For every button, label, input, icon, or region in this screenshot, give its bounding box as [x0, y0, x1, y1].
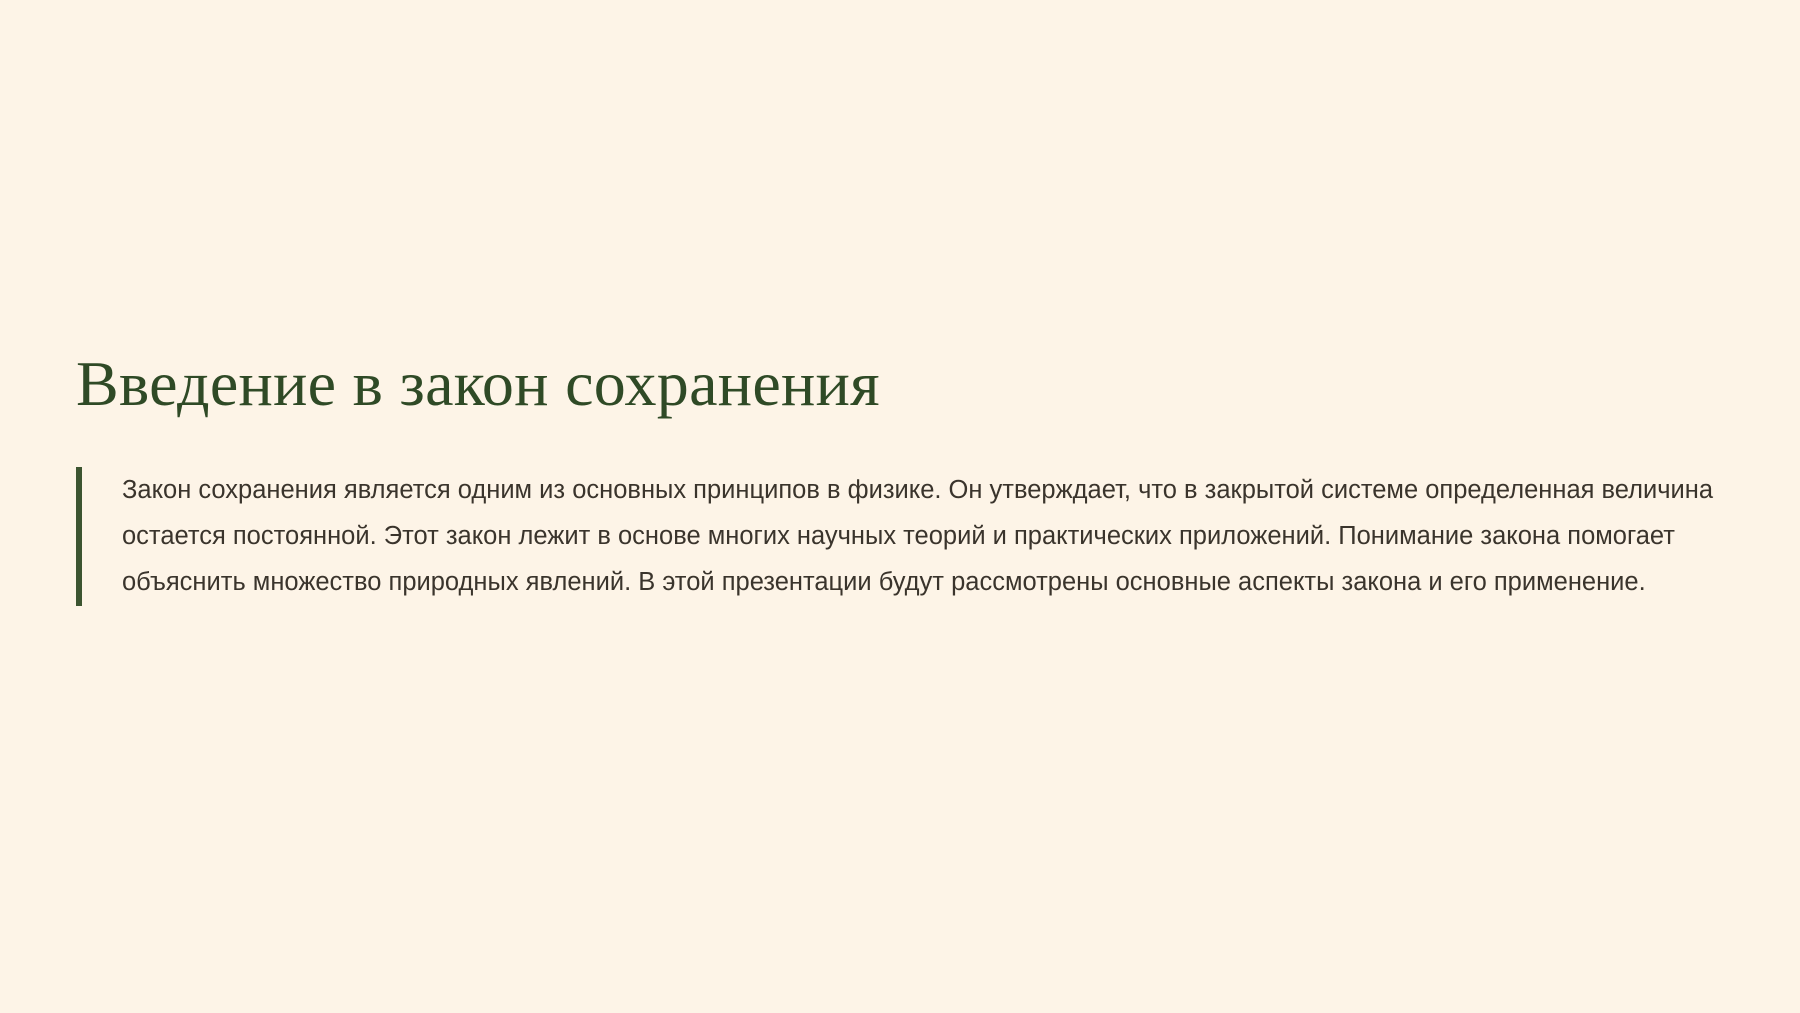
slide-content: Введение в закон сохранения Закон сохран… [76, 348, 1736, 606]
presentation-slide: Введение в закон сохранения Закон сохран… [0, 0, 1800, 1013]
body-block: Закон сохранения является одним из основ… [76, 467, 1736, 606]
page-title: Введение в закон сохранения [76, 348, 1736, 420]
body-paragraph: Закон сохранения является одним из основ… [122, 467, 1722, 606]
body-text-wrap: Закон сохранения является одним из основ… [82, 467, 1736, 606]
